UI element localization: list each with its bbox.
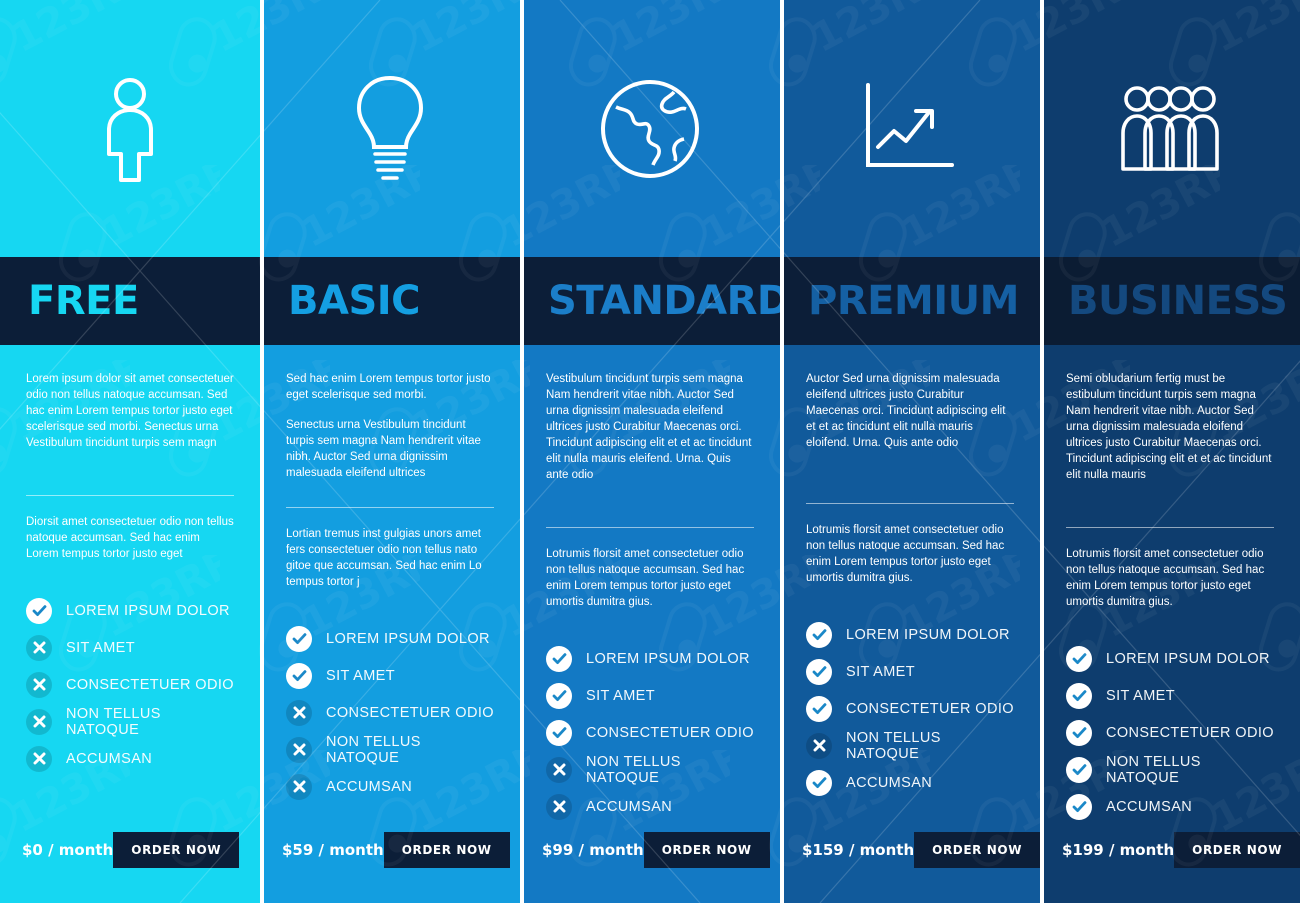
cross-icon: [26, 635, 52, 661]
check-icon: [806, 696, 832, 722]
feature-label: LOREM IPSUM DOLOR: [846, 627, 1010, 643]
plan-sub-description: Diorsit amet consectetuer odio non tellu…: [26, 514, 234, 562]
feature-item: SIT AMET: [26, 629, 234, 666]
feature-label: CONSECTETUER ODIO: [586, 725, 754, 741]
check-icon: [286, 626, 312, 652]
section-divider: [1066, 527, 1274, 528]
feature-label: CONSECTETUER ODIO: [66, 677, 234, 693]
plan-icon-zone: [260, 0, 520, 257]
feature-label: CONSECTETUER ODIO: [1106, 725, 1274, 741]
plan-column-premium: PREMIUM Auctor Sed urna dignissim malesu…: [780, 0, 1040, 903]
cross-icon: [26, 709, 52, 735]
cross-glyph: [553, 763, 566, 776]
plan-body: Lorem ipsum dolor sit amet consectetuer …: [0, 345, 260, 903]
people-group-icon: [1115, 83, 1225, 175]
plan-footer: $159 / month ORDER NOW: [780, 832, 1040, 868]
check-glyph: [1072, 651, 1087, 666]
feature-item: NON TELLUS NATOQUE: [806, 727, 1014, 764]
check-icon: [546, 720, 572, 746]
plan-icon-zone: [1040, 0, 1300, 257]
plan-icon-zone: [0, 0, 260, 257]
cross-icon: [26, 746, 52, 772]
section-divider: [26, 495, 234, 496]
plan-description: Vestibulum tincidunt turpis sem magna Na…: [546, 371, 754, 483]
plan-footer: $199 / month ORDER NOW: [1040, 832, 1300, 868]
plan-icon-zone: [780, 0, 1040, 257]
plan-description: Senectus urna Vestibulum tincidunt turpi…: [286, 417, 494, 481]
plan-sub-description: Lotrumis florsit amet consectetuer odio …: [1066, 546, 1274, 610]
check-icon: [1066, 683, 1092, 709]
check-icon: [806, 770, 832, 796]
cross-glyph: [33, 678, 46, 691]
check-glyph: [32, 603, 47, 618]
plan-description: Lorem ipsum dolor sit amet consectetuer …: [26, 371, 234, 451]
plan-title-band: BUSINESS: [1040, 257, 1300, 345]
check-glyph: [1072, 688, 1087, 703]
feature-label: ACCUMSAN: [326, 779, 412, 795]
section-divider: [286, 507, 494, 508]
plan-footer: $0 / month ORDER NOW: [0, 832, 260, 868]
feature-label: SIT AMET: [1106, 688, 1175, 704]
plan-price: $99 / month: [542, 841, 644, 859]
cross-glyph: [293, 780, 306, 793]
cross-icon: [286, 774, 312, 800]
check-icon: [26, 598, 52, 624]
check-glyph: [1072, 725, 1087, 740]
check-icon: [1066, 794, 1092, 820]
feature-label: NON TELLUS NATOQUE: [846, 730, 1014, 762]
check-icon: [806, 622, 832, 648]
feature-item: LOREM IPSUM DOLOR: [806, 616, 1014, 653]
feature-item: NON TELLUS NATOQUE: [546, 751, 754, 788]
feature-item: ACCUMSAN: [26, 740, 234, 777]
feature-label: LOREM IPSUM DOLOR: [66, 603, 230, 619]
feature-label: SIT AMET: [326, 668, 395, 684]
feature-list: LOREM IPSUM DOLOR SIT AMET CONSECTETUER …: [286, 620, 494, 805]
order-now-button[interactable]: ORDER NOW: [1174, 832, 1300, 868]
check-glyph: [812, 775, 827, 790]
plan-title-band: STANDARD: [520, 257, 780, 345]
check-glyph: [292, 631, 307, 646]
feature-label: LOREM IPSUM DOLOR: [326, 631, 490, 647]
feature-list: LOREM IPSUM DOLOR SIT AMET CONSECTETUER …: [26, 592, 234, 777]
cross-glyph: [553, 800, 566, 813]
feature-label: ACCUMSAN: [586, 799, 672, 815]
feature-item: ACCUMSAN: [286, 768, 494, 805]
check-glyph: [1072, 762, 1087, 777]
feature-label: ACCUMSAN: [1106, 799, 1192, 815]
plan-title: STANDARD: [548, 281, 780, 321]
feature-item: ACCUMSAN: [806, 764, 1014, 801]
plan-column-business: BUSINESS Semi obludarium fertig must be …: [1040, 0, 1300, 903]
cross-glyph: [33, 752, 46, 765]
order-now-button[interactable]: ORDER NOW: [644, 832, 770, 868]
feature-label: SIT AMET: [586, 688, 655, 704]
feature-item: NON TELLUS NATOQUE: [26, 703, 234, 740]
feature-item: CONSECTETUER ODIO: [546, 714, 754, 751]
feature-item: LOREM IPSUM DOLOR: [286, 620, 494, 657]
feature-item: ACCUMSAN: [1066, 788, 1274, 825]
feature-label: NON TELLUS NATOQUE: [66, 706, 234, 738]
plan-description: Auctor Sed urna dignissim malesuada elei…: [806, 371, 1014, 451]
check-glyph: [812, 664, 827, 679]
plan-icon-zone: [520, 0, 780, 257]
feature-item: NON TELLUS NATOQUE: [1066, 751, 1274, 788]
check-icon: [546, 683, 572, 709]
plan-price: $59 / month: [282, 841, 384, 859]
feature-item: CONSECTETUER ODIO: [26, 666, 234, 703]
plan-title: BASIC: [288, 281, 420, 321]
cross-glyph: [293, 743, 306, 756]
check-glyph: [552, 725, 567, 740]
plan-title-band: BASIC: [260, 257, 520, 345]
check-glyph: [552, 688, 567, 703]
plan-body: Auctor Sed urna dignissim malesuada elei…: [780, 345, 1040, 903]
check-icon: [546, 646, 572, 672]
feature-list: LOREM IPSUM DOLOR SIT AMET CONSECTETUER …: [806, 616, 1014, 801]
feature-list: LOREM IPSUM DOLOR SIT AMET CONSECTETUER …: [1066, 640, 1274, 825]
plan-title: PREMIUM: [808, 281, 1019, 321]
cross-glyph: [33, 641, 46, 654]
feature-item: SIT AMET: [806, 653, 1014, 690]
plan-title: FREE: [28, 281, 139, 321]
feature-label: SIT AMET: [846, 664, 915, 680]
feature-label: NON TELLUS NATOQUE: [1106, 754, 1274, 786]
cross-glyph: [293, 706, 306, 719]
feature-item: ACCUMSAN: [546, 788, 754, 825]
feature-item: NON TELLUS NATOQUE: [286, 731, 494, 768]
feature-label: ACCUMSAN: [66, 751, 152, 767]
cross-icon: [546, 757, 572, 783]
lightbulb-icon: [345, 72, 435, 186]
feature-label: ACCUMSAN: [846, 775, 932, 791]
plan-column-free: FREE Lorem ipsum dolor sit amet consecte…: [0, 0, 260, 903]
plan-footer: $59 / month ORDER NOW: [260, 832, 520, 868]
plan-body: Sed hac enim Lorem tempus tortor justo e…: [260, 345, 520, 903]
plan-footer: $99 / month ORDER NOW: [520, 832, 780, 868]
plan-title: BUSINESS: [1068, 281, 1287, 321]
check-icon: [1066, 720, 1092, 746]
order-now-button[interactable]: ORDER NOW: [384, 832, 510, 868]
cross-icon: [286, 737, 312, 763]
cross-glyph: [33, 715, 46, 728]
feature-label: CONSECTETUER ODIO: [326, 705, 494, 721]
section-divider: [546, 527, 754, 528]
feature-item: CONSECTETUER ODIO: [806, 690, 1014, 727]
plan-body: Vestibulum tincidunt turpis sem magna Na…: [520, 345, 780, 903]
check-glyph: [292, 668, 307, 683]
pricing-table: FREE Lorem ipsum dolor sit amet consecte…: [0, 0, 1300, 903]
check-glyph: [1072, 799, 1087, 814]
cross-icon: [286, 700, 312, 726]
plan-price: $199 / month: [1062, 841, 1174, 859]
feature-label: NON TELLUS NATOQUE: [326, 734, 494, 766]
globe-icon: [598, 77, 702, 181]
feature-item: LOREM IPSUM DOLOR: [546, 640, 754, 677]
check-icon: [1066, 757, 1092, 783]
plan-column-standard: STANDARD Vestibulum tincidunt turpis sem…: [520, 0, 780, 903]
feature-list: LOREM IPSUM DOLOR SIT AMET CONSECTETUER …: [546, 640, 754, 825]
check-glyph: [812, 627, 827, 642]
check-icon: [1066, 646, 1092, 672]
check-glyph: [552, 651, 567, 666]
feature-item: LOREM IPSUM DOLOR: [26, 592, 234, 629]
check-icon: [806, 659, 832, 685]
check-icon: [286, 663, 312, 689]
plan-price: $159 / month: [802, 841, 914, 859]
feature-label: LOREM IPSUM DOLOR: [586, 651, 750, 667]
feature-label: LOREM IPSUM DOLOR: [1106, 651, 1270, 667]
feature-item: SIT AMET: [1066, 677, 1274, 714]
plan-sub-description: Lotrumis florsit amet consectetuer odio …: [546, 546, 754, 610]
growth-chart-icon: [858, 81, 962, 177]
plan-description: Sed hac enim Lorem tempus tortor justo e…: [286, 371, 494, 403]
order-now-button[interactable]: ORDER NOW: [113, 832, 239, 868]
feature-item: CONSECTETUER ODIO: [286, 694, 494, 731]
cross-glyph: [813, 739, 826, 752]
cross-icon: [806, 733, 832, 759]
feature-item: LOREM IPSUM DOLOR: [1066, 640, 1274, 677]
cross-icon: [546, 794, 572, 820]
plan-title-band: PREMIUM: [780, 257, 1040, 345]
feature-label: CONSECTETUER ODIO: [846, 701, 1014, 717]
feature-label: NON TELLUS NATOQUE: [586, 754, 754, 786]
feature-item: SIT AMET: [286, 657, 494, 694]
person-icon: [87, 74, 173, 184]
section-divider: [806, 503, 1014, 504]
feature-label: SIT AMET: [66, 640, 135, 656]
plan-title-band: FREE: [0, 257, 260, 345]
feature-item: SIT AMET: [546, 677, 754, 714]
check-glyph: [812, 701, 827, 716]
feature-item: CONSECTETUER ODIO: [1066, 714, 1274, 751]
plan-sub-description: Lortian tremus inst gulgias unors amet f…: [286, 526, 494, 590]
plan-price: $0 / month: [22, 841, 113, 859]
cross-icon: [26, 672, 52, 698]
plan-column-basic: BASIC Sed hac enim Lorem tempus tortor j…: [260, 0, 520, 903]
plan-body: Semi obludarium fertig must be estibulum…: [1040, 345, 1300, 903]
plan-sub-description: Lotrumis florsit amet consectetuer odio …: [806, 522, 1014, 586]
order-now-button[interactable]: ORDER NOW: [914, 832, 1040, 868]
plan-description: Semi obludarium fertig must be estibulum…: [1066, 371, 1274, 483]
